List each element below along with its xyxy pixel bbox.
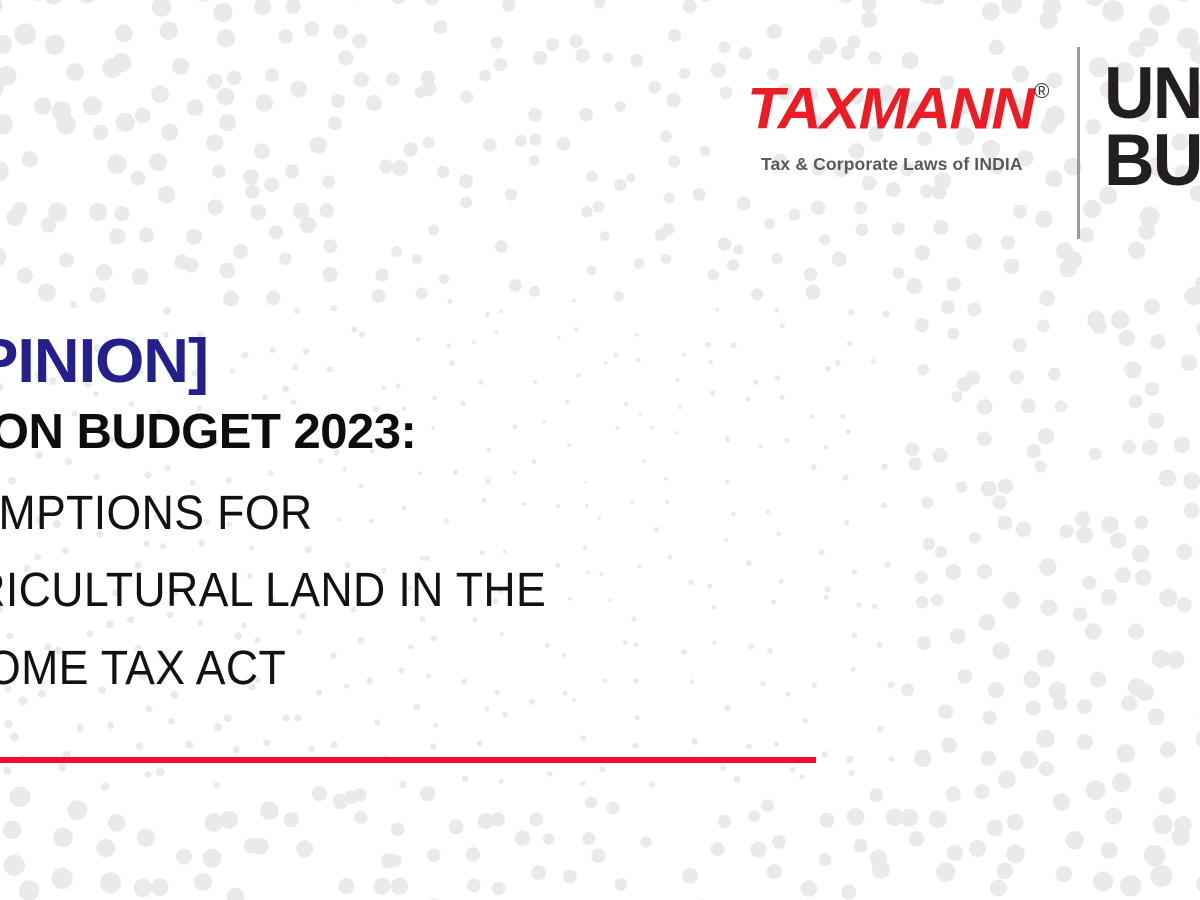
opinion-eyebrow-label: [OPINION]	[0, 330, 928, 393]
headline-underline-rule	[0, 757, 816, 763]
headline-line-2: AGRICULTURAL LAND IN THE	[0, 552, 838, 630]
taxmann-tagline: Tax & Corporate Laws of INDIA	[761, 154, 1023, 175]
taxmann-wordmark: TAXMANN	[747, 80, 1033, 139]
headline-line-1: EXEMPTIONS FOR	[0, 475, 838, 553]
brand-divider	[1077, 47, 1080, 239]
taxmann-logo[interactable]: TAXMANN ® Tax & Corporate Laws of INDIA	[747, 80, 1067, 190]
union-budget-logo-line-1: UN	[1104, 60, 1200, 127]
headline-line-3: INCOME TAX ACT	[0, 630, 838, 708]
registered-trademark-icon: ®	[1034, 81, 1049, 102]
headline-block: [OPINION] UNION BUDGET 2023: EXEMPTIONS …	[0, 330, 908, 708]
headline-lead: UNION BUDGET 2023:	[0, 407, 908, 458]
union-budget-logo[interactable]: UN BU	[1104, 60, 1200, 194]
poster-canvas: TAXMANN ® Tax & Corporate Laws of INDIA …	[0, 0, 1200, 900]
brand-header: TAXMANN ® Tax & Corporate Laws of INDIA …	[0, 0, 1200, 260]
union-budget-logo-line-2: BU	[1104, 127, 1200, 194]
